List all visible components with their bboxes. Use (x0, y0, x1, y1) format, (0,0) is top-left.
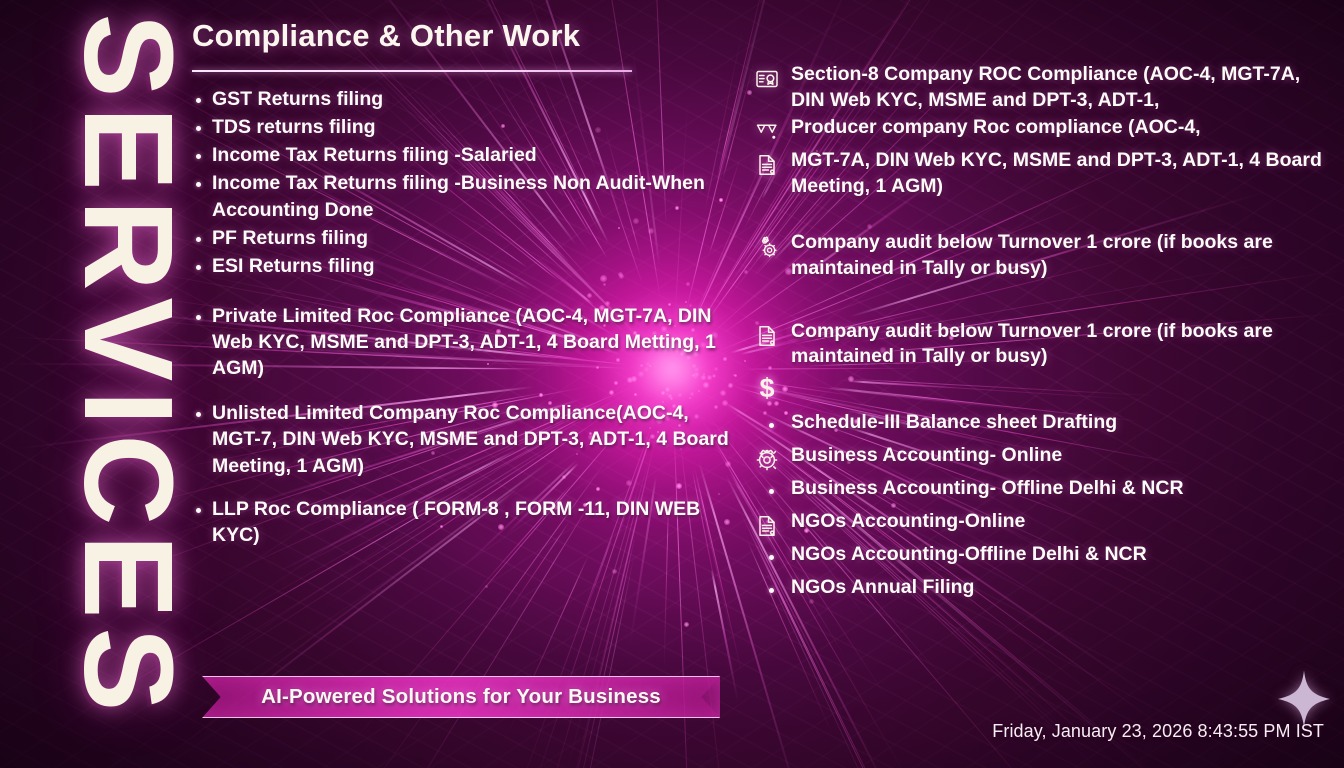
right-list-item-label: Producer company Roc compliance (AOC-4, (791, 115, 1322, 141)
dollar-icon: $ (752, 373, 782, 403)
slide-canvas: SERVICES Compliance & Other Work GST Ret… (0, 0, 1344, 768)
document-icon (752, 511, 782, 541)
list-item-label: LLP Roc Compliance ( FORM-8 , FORM -11, … (212, 498, 700, 546)
bullet-marker (752, 577, 782, 607)
bullet-marker (752, 478, 782, 508)
side-title: SERVICES (65, 0, 191, 747)
right-block-two: Company audit below Turnover 1 crore (if… (752, 230, 1322, 282)
timestamp: Friday, January 23, 2026 8:43:55 PM IST (992, 721, 1324, 742)
left-list-group-four: LLP Roc Compliance ( FORM-8 , FORM -11, … (190, 496, 735, 548)
list-item: LLP Roc Compliance ( FORM-8 , FORM -11, … (190, 496, 735, 548)
right-list-item-label: MGT-7A, DIN Web KYC, MSME and DPT-3, ADT… (791, 148, 1322, 200)
list-item: Private Limited Roc Compliance (AOC-4, M… (190, 303, 735, 381)
gear-icon (752, 445, 782, 475)
list-item-label: ESI Returns filing (212, 255, 375, 277)
right-list-item-label: NGOs Accounting-Offline Delhi & NCR (791, 542, 1322, 568)
spacer (190, 481, 735, 496)
list-item: GST Returns filing (190, 86, 735, 112)
spacer (752, 283, 1322, 319)
spacer (190, 383, 735, 400)
scales-balance-icon (752, 117, 782, 147)
list-item: TDS returns filing (190, 114, 735, 140)
right-list-item: Producer company Roc compliance (AOC-4, (752, 115, 1322, 147)
list-item-label: Private Limited Roc Compliance (AOC-4, M… (212, 305, 716, 379)
list-item: Income Tax Returns filing -Salaried (190, 142, 735, 168)
list-item: PF Returns filing (190, 225, 735, 251)
dollar-row: $ (752, 371, 1322, 403)
right-block-one: Section-8 Company ROC Compliance (AOC-4,… (752, 62, 1322, 200)
spacer (190, 281, 735, 303)
left-list-group-one: GST Returns filingTDS returns filingInco… (190, 86, 735, 279)
title-divider (192, 70, 632, 72)
document-icon (752, 321, 782, 351)
four-point-star-icon (1278, 670, 1330, 728)
bullet-marker (752, 412, 782, 442)
right-list-item: Section-8 Company ROC Compliance (AOC-4,… (752, 62, 1322, 114)
dollar-glyph: $ (759, 375, 774, 402)
right-list-item: MGT-7A, DIN Web KYC, MSME and DPT-3, ADT… (752, 148, 1322, 200)
list-item-label: GST Returns filing (212, 88, 383, 110)
list-item: Income Tax Returns filing -Business Non … (190, 170, 735, 222)
right-list-item: Company audit below Turnover 1 crore (if… (752, 319, 1322, 371)
list-item: ESI Returns filing (190, 253, 735, 279)
right-list-item-label: Business Accounting- Offline Delhi & NCR (791, 476, 1322, 502)
document-icon (752, 150, 782, 180)
right-list-item-label: Schedule-III Balance sheet Drafting (791, 410, 1322, 436)
right-list-item: Company audit below Turnover 1 crore (if… (752, 230, 1322, 282)
left-column: Compliance & Other Work GST Returns fili… (190, 18, 735, 550)
right-list-item-label: Company audit below Turnover 1 crore (if… (791, 319, 1322, 371)
right-list-item: NGOs Accounting-Online (752, 509, 1322, 541)
right-list-item: Business Accounting- Offline Delhi & NCR (752, 476, 1322, 508)
right-list-item-label: Business Accounting- Online (791, 443, 1322, 469)
left-list-group-three: Unlisted Limited Company Roc Compliance(… (190, 400, 735, 478)
list-item-label: Income Tax Returns filing -Business Non … (212, 172, 705, 220)
list-item-label: Income Tax Returns filing -Salaried (212, 144, 537, 166)
list-item-label: TDS returns filing (212, 116, 376, 138)
ribbon-label: AI-Powered Solutions for Your Business (261, 685, 661, 709)
right-column: Section-8 Company ROC Compliance (AOC-4,… (752, 62, 1322, 608)
right-list-item: Business Accounting- Online (752, 443, 1322, 475)
right-list-item-label: NGOs Accounting-Online (791, 509, 1322, 535)
right-block-three: Company audit below Turnover 1 crore (if… (752, 319, 1322, 371)
list-item: Unlisted Limited Company Roc Compliance(… (190, 400, 735, 478)
right-list-item-label: Section-8 Company ROC Compliance (AOC-4,… (791, 62, 1322, 114)
left-list-group-two: Private Limited Roc Compliance (AOC-4, M… (190, 303, 735, 381)
right-list-item: Schedule-III Balance sheet Drafting (752, 410, 1322, 442)
bullet-marker (752, 544, 782, 574)
list-item-label: Unlisted Limited Company Roc Compliance(… (212, 402, 729, 476)
right-list-item: NGOs Accounting-Offline Delhi & NCR (752, 542, 1322, 574)
gears-icon (752, 232, 782, 262)
certificate-badge-icon (752, 64, 782, 94)
page-title: Compliance & Other Work (192, 18, 735, 54)
spacer (752, 201, 1322, 230)
right-list-item-label: Company audit below Turnover 1 crore (if… (791, 230, 1322, 282)
right-list-item: NGOs Annual Filing (752, 575, 1322, 607)
right-block-four: Schedule-III Balance sheet DraftingBusin… (752, 410, 1322, 607)
right-list-item-label: NGOs Annual Filing (791, 575, 1322, 601)
list-item-label: PF Returns filing (212, 227, 368, 249)
tagline-ribbon: AI-Powered Solutions for Your Business (202, 676, 720, 718)
